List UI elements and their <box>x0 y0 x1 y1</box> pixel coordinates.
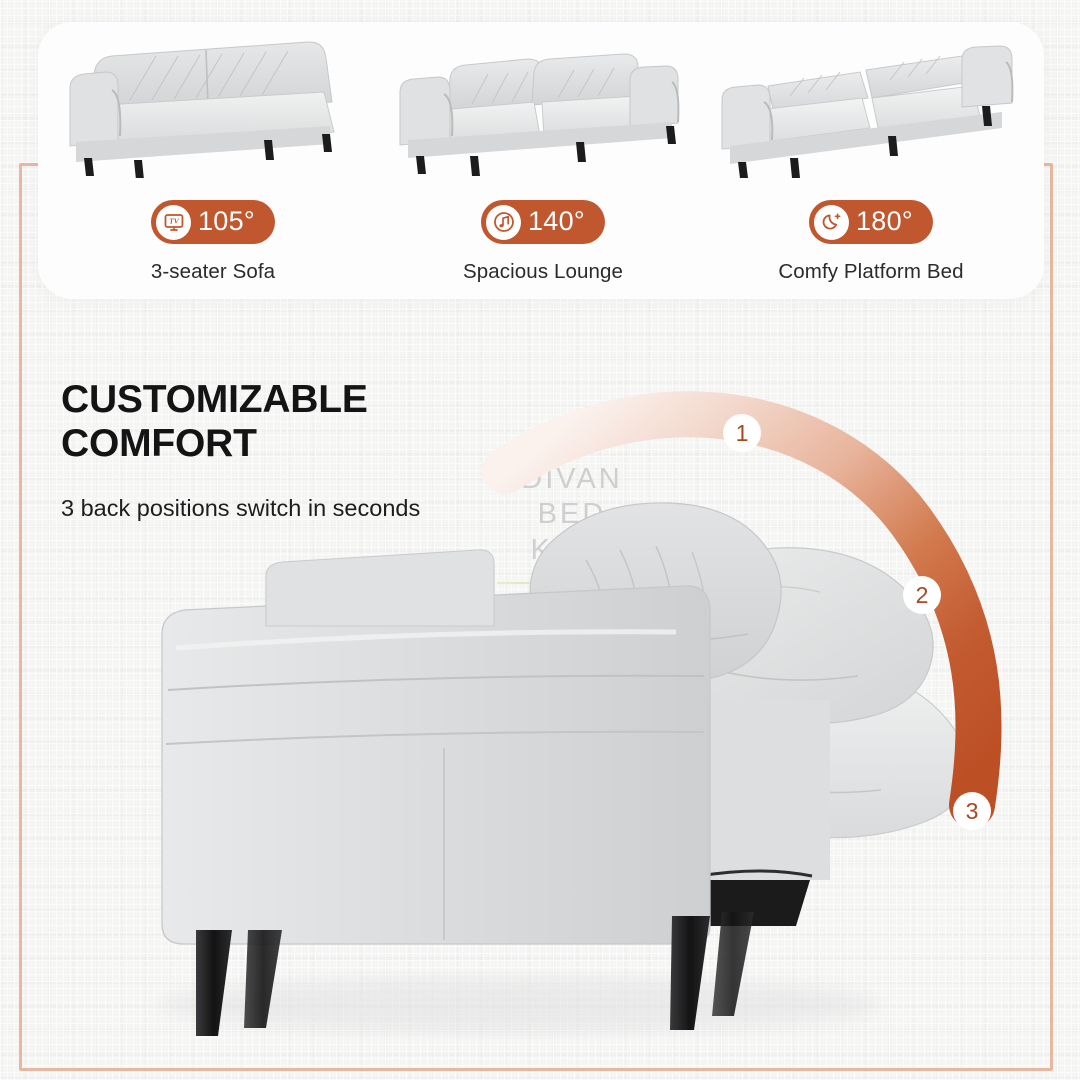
main-sofa-illustration <box>0 0 1080 1080</box>
infographic-canvas: DIVAN BED KING Sleep like royalty. 1 2 3 <box>0 0 1080 1080</box>
arc-marker-3: 3 <box>953 792 991 830</box>
sofa-side-body <box>162 586 710 944</box>
arc-marker-1: 1 <box>723 414 761 452</box>
arc-marker-2: 2 <box>903 576 941 614</box>
